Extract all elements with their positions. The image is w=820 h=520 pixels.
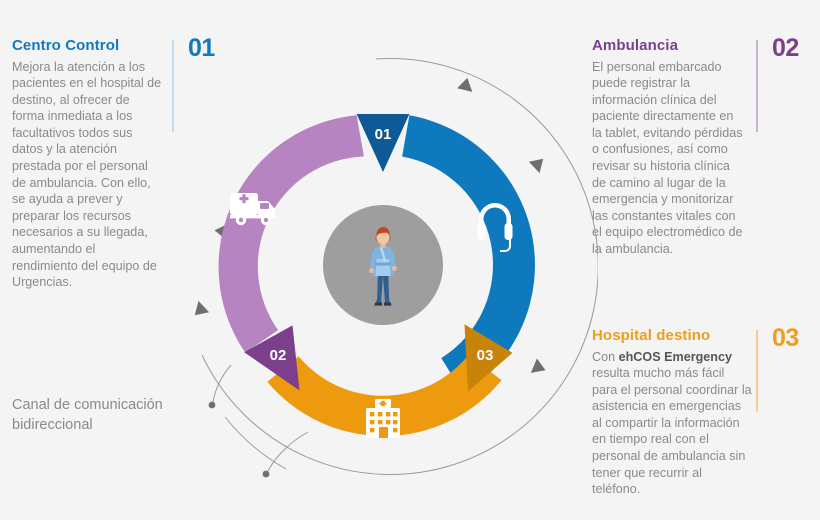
hospital-body-rest: resulta mucho más fácil para el personal… (592, 366, 752, 496)
step-number-02: 02 (772, 36, 799, 61)
marker-01[interactable]: 01 (357, 114, 410, 172)
divider-02 (756, 40, 758, 132)
step-number-03: 03 (772, 326, 799, 351)
medical-staff-avatar (366, 224, 400, 310)
connector-dots (209, 402, 270, 478)
arc-arrow-3 (528, 359, 548, 379)
marker-03-label: 03 (477, 347, 494, 364)
arc-arrow-4 (190, 299, 209, 319)
panel-ambulancia-body: El personal embarcado puede registrar la… (592, 59, 744, 258)
hospital-body-product: ehCOS Emergency (619, 350, 732, 364)
cycle-diagram: 01 02 03 (168, 22, 598, 512)
panel-centro-control-body: Mejora la atención a los pacientes en el… (12, 59, 164, 291)
marker-02-label: 02 (270, 347, 287, 364)
panel-ambulancia: Ambulancia El personal embarcado puede r… (592, 38, 744, 258)
arc-arrow-2 (529, 155, 548, 175)
connector-dot-2 (263, 471, 270, 478)
arc-arrow-1 (457, 76, 477, 95)
panel-hospital-destino-body: Con ehCOS Emergency resulta mucho más fá… (592, 349, 752, 498)
infographic-canvas: Centro Control Mejora la atención a los … (0, 0, 820, 520)
panel-hospital-destino: Hospital destino Con ehCOS Emergency res… (592, 328, 752, 498)
panel-centro-control: Centro Control Mejora la atención a los … (12, 38, 164, 291)
panel-hospital-destino-title: Hospital destino (592, 328, 752, 345)
panel-centro-control-title: Centro Control (12, 38, 164, 55)
panel-ambulancia-title: Ambulancia (592, 38, 744, 55)
connector-dot-1 (209, 402, 216, 409)
marker-01-label: 01 (375, 126, 392, 143)
divider-03 (756, 330, 758, 412)
